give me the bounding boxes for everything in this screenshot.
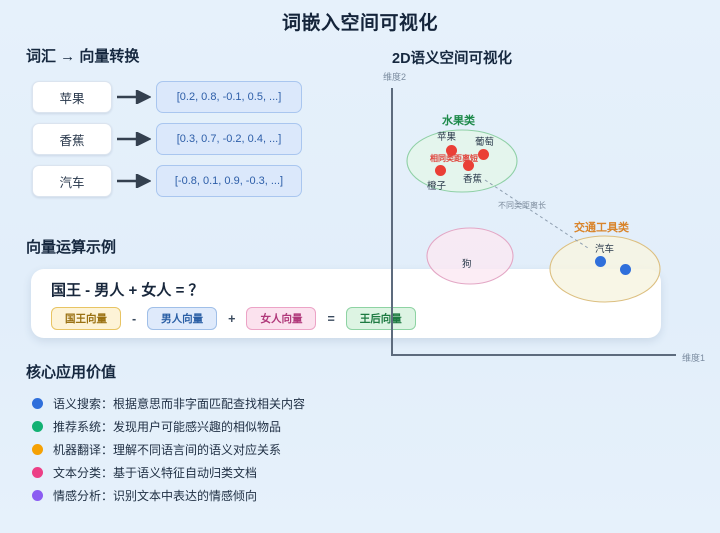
list-item: 机器翻译：理解不同语言间的语义对应关系 [32, 438, 305, 461]
word-vector-row: 汽车 [-0.8, 0.1, 0.9, -0.3, ...] [32, 166, 302, 196]
section-title-applications: 核心应用价值 [26, 361, 116, 382]
application-list: 语义搜索：根据意思而非字面匹配查找相关内容 推荐系统：发现用户可能感兴趣的相似物… [32, 392, 305, 507]
annotation-same-class: 相同类距离短 [430, 153, 478, 164]
vector-chip: [0.2, 0.8, -0.1, 0.5, ...] [156, 81, 302, 113]
cluster-label-transport: 交通工具类 [574, 219, 629, 235]
point-label-apple: 苹果 [437, 129, 456, 143]
bullet-dot-icon [32, 444, 43, 455]
data-point-grape[interactable] [478, 149, 489, 160]
page-title: 词嵌入空间可视化 [0, 8, 720, 35]
data-point-car[interactable] [595, 256, 606, 267]
arrow-right-icon [112, 124, 156, 154]
list-item: 情感分析：识别文本中表达的情感倾向 [32, 484, 305, 507]
cluster-shapes [380, 60, 720, 360]
data-point-vehicle2[interactable] [620, 264, 631, 275]
semantic-space-plot: 水果类 交通工具类 苹果 葡萄 香蕉 橙子 汽车 狗 相同类距离短 不同类距离长 [380, 60, 720, 360]
point-label-orange: 橙子 [427, 178, 446, 192]
arithmetic-chip-row: 国王向量 - 男人向量 + 女人向量 = 王后向量 [51, 307, 416, 330]
operator-plus: + [226, 312, 237, 326]
word-chip[interactable]: 香蕉 [32, 123, 112, 155]
word-vector-row: 香蕉 [0.3, 0.7, -0.2, 0.4, ...] [32, 124, 302, 154]
bullet-dot-icon [32, 421, 43, 432]
vector-chip: [-0.8, 0.1, 0.9, -0.3, ...] [156, 165, 302, 197]
section-title-arithmetic: 向量运算示例 [26, 236, 116, 257]
word-vector-row: 苹果 [0.2, 0.8, -0.1, 0.5, ...] [32, 82, 302, 112]
operator-equals: = [325, 312, 336, 326]
list-item: 推荐系统：发现用户可能感兴趣的相似物品 [32, 415, 305, 438]
list-item-label: 推荐系统：发现用户可能感兴趣的相似物品 [53, 418, 281, 435]
operator-minus: - [130, 312, 138, 326]
list-item-label: 文本分类：基于语义特征自动归类文档 [53, 464, 257, 481]
list-item-label: 机器翻译：理解不同语言间的语义对应关系 [53, 441, 281, 458]
data-point-orange[interactable] [435, 165, 446, 176]
arrow-right-icon [112, 82, 156, 112]
vector-chip-man[interactable]: 男人向量 [147, 307, 217, 330]
point-label-banana: 香蕉 [463, 171, 482, 185]
bullet-dot-icon [32, 490, 43, 501]
arrow-right-icon [112, 166, 156, 196]
vector-chip: [0.3, 0.7, -0.2, 0.4, ...] [156, 123, 302, 155]
cluster-label-fruit: 水果类 [442, 112, 475, 128]
section-title-vocab: 词汇 → 向量转换 [26, 45, 139, 66]
point-label-grape: 葡萄 [475, 134, 494, 148]
bullet-dot-icon [32, 467, 43, 478]
word-chip[interactable]: 苹果 [32, 81, 112, 113]
arithmetic-equation: 国王 - 男人 + 女人 = ？ [51, 279, 204, 300]
list-item-label: 情感分析：识别文本中表达的情感倾向 [53, 487, 257, 504]
word-chip[interactable]: 汽车 [32, 165, 112, 197]
bullet-dot-icon [32, 398, 43, 409]
point-label-dog: 狗 [462, 256, 472, 270]
list-item: 语义搜索：根据意思而非字面匹配查找相关内容 [32, 392, 305, 415]
list-item-label: 语义搜索：根据意思而非字面匹配查找相关内容 [53, 395, 305, 412]
list-item: 文本分类：基于语义特征自动归类文档 [32, 461, 305, 484]
vector-chip-woman[interactable]: 女人向量 [246, 307, 316, 330]
vector-chip-king[interactable]: 国王向量 [51, 307, 121, 330]
point-label-car: 汽车 [595, 241, 614, 255]
annotation-diff-class: 不同类距离长 [498, 200, 546, 211]
